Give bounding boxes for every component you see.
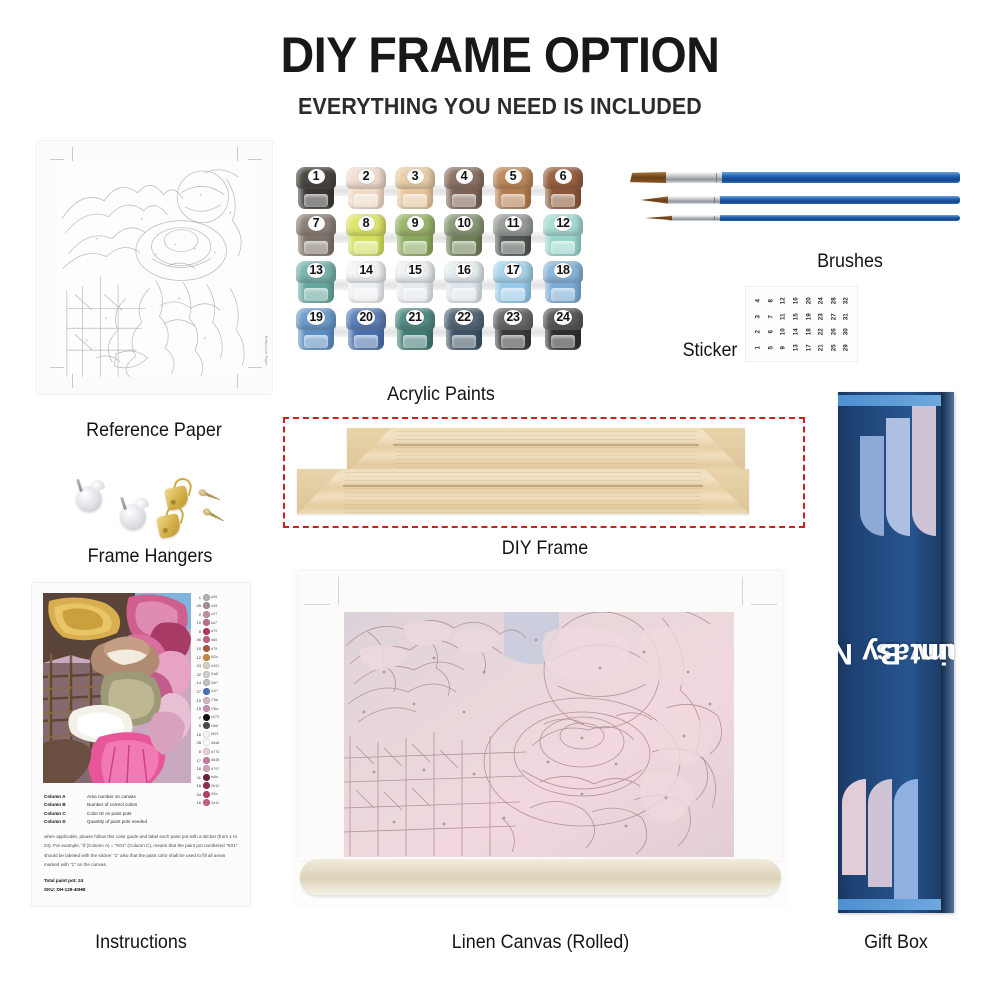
legend-color-swatch <box>203 654 210 661</box>
legend-color-swatch <box>203 739 210 746</box>
paint-pot-number: 4 <box>444 168 484 185</box>
frame-wood-strip <box>297 469 749 514</box>
instructions-column-row: Column BNumber of correct colors <box>44 801 240 809</box>
paint-pot-11: 11 <box>493 214 533 257</box>
paint-pot-number: 9 <box>395 215 435 232</box>
crop-mark <box>72 147 73 161</box>
legend-color-code: l1b7 <box>211 689 218 693</box>
canvas-tick <box>751 604 777 605</box>
legend-number: 16 <box>195 732 201 737</box>
legend-number: 2 <box>195 715 201 720</box>
legend-number: 24 <box>195 663 201 668</box>
legend-number: 11 <box>195 775 201 780</box>
legend-color-code: d5a8 <box>211 741 219 745</box>
paint-pot-17: 17 <box>493 261 533 304</box>
frame-hangers-group <box>70 468 230 538</box>
linen-canvas-group <box>292 567 789 907</box>
caption-reference-paper: Reference Paper <box>45 419 262 442</box>
paint-pot-number: 6 <box>543 168 583 185</box>
paint-pot-18: 18 <box>543 261 583 304</box>
legend-color-swatch <box>203 774 210 781</box>
instructions-sheet: 1a2645o082u0710ka78a7046a6610d7912f62u24… <box>32 583 250 906</box>
paint-pot-22: 22 <box>444 308 484 351</box>
legend-color-swatch <box>203 757 210 764</box>
legend-number: 2 <box>195 612 201 617</box>
instructions-column-value: Number of correct colors <box>87 801 137 809</box>
paint-pot-number: 5 <box>493 168 533 185</box>
legend-color-code: d79 <box>211 647 217 651</box>
legend-number: 45 <box>195 603 201 608</box>
crop-mark <box>72 374 73 388</box>
caption-gift-box: Gift Box <box>843 931 950 954</box>
gift-box: Canvas Paint By Number <box>838 392 954 913</box>
paint-pot-number: 18 <box>543 262 583 279</box>
paint-pot-holder-strip <box>302 232 580 243</box>
caption-diy-frame: DIY Frame <box>439 537 651 560</box>
instructions-column-value: Color ID on paint pots <box>87 810 131 818</box>
brush-bristle <box>630 172 666 183</box>
paint-pot-number: 7 <box>296 215 336 232</box>
legend-number: 14 <box>195 680 201 685</box>
legend-number: 46 <box>195 637 201 642</box>
legend-number: 17 <box>195 758 201 763</box>
artwork-preview-icon <box>43 593 191 783</box>
paint-pot-3: 3 <box>395 167 435 210</box>
legend-number: 19 <box>195 698 201 703</box>
legend-row: 11fs6a <box>195 773 241 781</box>
paint-pot-holder-strip <box>302 326 580 337</box>
instructions-column-row: Column AArea number on canvas <box>44 793 240 801</box>
legend-number: 1 <box>195 595 201 600</box>
crop-mark <box>50 367 64 368</box>
d-ring-plate <box>156 513 182 539</box>
brush-handle <box>720 172 960 183</box>
paint-pot-23: 23 <box>493 308 533 351</box>
legend-color-swatch <box>203 645 210 652</box>
legend-row: 2u07 <box>195 610 241 618</box>
paint-pot-row: 123456 <box>296 166 586 212</box>
page-title: DIY FRAME OPTION <box>35 26 965 84</box>
paint-pot-number: 20 <box>346 309 386 326</box>
legend-number: 8 <box>195 749 201 754</box>
total-paint-pot-value: 24 <box>78 878 83 883</box>
paint-pot-8: 8 <box>346 214 386 257</box>
frame-wood-strip <box>347 428 745 473</box>
crop-mark <box>248 367 262 368</box>
legend-color-code: l75b <box>211 698 218 702</box>
reference-paper-artwork <box>57 159 254 378</box>
paint-pot-number: 1 <box>296 168 336 185</box>
instructions-text: Column AArea number on canvasColumn BNum… <box>44 793 240 895</box>
paint-pot-24: 24 <box>543 308 583 351</box>
canvas-artwork <box>344 612 734 857</box>
legend-color-swatch <box>203 602 210 609</box>
legend-row: 17d848 <box>195 756 241 764</box>
legend-row: 18d797 <box>195 765 241 773</box>
paint-pot-number: 23 <box>493 309 533 326</box>
legend-color-code: 2b10 <box>211 784 219 788</box>
legend-color-swatch <box>203 705 210 712</box>
legend-color-code: k070 <box>211 715 219 719</box>
legend-color-swatch <box>203 765 210 772</box>
legend-color-swatch <box>203 782 210 789</box>
legend-color-swatch <box>203 679 210 686</box>
legend-row: 45o08 <box>195 602 241 610</box>
legend-row: 28d5a8 <box>195 739 241 747</box>
paint-pot-number: 11 <box>493 215 533 232</box>
legend-color-code: n001 <box>211 664 219 668</box>
instructions-totals: Total paint pot: 24 SKU: DH-129-40HB <box>44 876 240 895</box>
paint-pot-number: 24 <box>543 309 583 326</box>
paint-pot-number: 16 <box>444 262 484 279</box>
legend-color-code: a70 <box>211 629 217 633</box>
paint-pot-1: 1 <box>296 167 336 210</box>
legend-number: 12 <box>195 655 201 660</box>
legend-row: 8d776 <box>195 747 241 755</box>
legend-color-swatch <box>203 662 210 669</box>
round-brush <box>636 196 960 204</box>
legend-row: 8a70 <box>195 627 241 635</box>
caption-instructions: Instructions <box>41 931 242 954</box>
d-ring-hanger <box>158 506 184 537</box>
legend-color-code: a66 <box>211 638 217 642</box>
legend-number: 10 <box>195 646 201 651</box>
paint-pot-13: 13 <box>296 261 336 304</box>
legend-color-code: ka7 <box>211 621 217 625</box>
legend-color-code: f62u <box>211 655 218 659</box>
sticker-number: 31 <box>839 310 855 323</box>
legend-color-swatch <box>203 628 210 635</box>
plastic-hook <box>76 486 102 512</box>
paint-pot-16: 16 <box>444 261 484 304</box>
legend-color-code: f903 <box>211 732 218 736</box>
paint-pot-2: 2 <box>346 167 386 210</box>
paint-pot-number: 21 <box>395 309 435 326</box>
legend-color-code: d848 <box>211 758 219 762</box>
paint-pot-row: 789101112 <box>296 213 586 259</box>
total-paint-pot-label: Total paint pot: <box>44 878 77 883</box>
instructions-column-key-label: Column C <box>44 810 82 818</box>
screw-head <box>198 488 208 497</box>
plastic-hook <box>120 504 146 530</box>
legend-number: 8 <box>195 629 201 634</box>
wood-groove <box>393 444 699 446</box>
legend-number: 28 <box>195 740 201 745</box>
canvas-sheet <box>298 571 783 861</box>
paint-pot-20: 20 <box>346 308 386 351</box>
brush-handle <box>714 196 960 204</box>
paint-pot-number: 3 <box>395 168 435 185</box>
sku-label: SKU: <box>44 887 55 892</box>
canvas-tick <box>338 577 339 605</box>
instructions-column-row: Column DQuantity of paint pots needed <box>44 818 240 826</box>
legend-color-swatch <box>203 636 210 643</box>
d-ring-hanger <box>166 478 192 509</box>
legend-row: 22l1a8 <box>195 670 241 678</box>
paint-pot-14: 14 <box>346 261 386 304</box>
legend-row: 46a66 <box>195 636 241 644</box>
brush-ferrule <box>664 172 722 183</box>
caption-sticker: Sticker <box>636 339 783 362</box>
legend-row: 162b10 <box>195 782 241 790</box>
gift-box-title-line2: Paint By Number <box>838 635 954 670</box>
reference-paper: Reference Paper <box>36 141 272 394</box>
paint-pot-number: 13 <box>296 262 336 279</box>
legend-number: 10 <box>195 620 201 625</box>
legend-row: 19l75b <box>195 696 241 704</box>
liner-brush <box>644 215 960 221</box>
canvas-tick <box>304 604 330 605</box>
caption-acrylic-paints: Acrylic Paints <box>308 383 575 406</box>
legend-color-swatch <box>203 611 210 618</box>
paint-pot-7: 7 <box>296 214 336 257</box>
paint-pot-10: 10 <box>444 214 484 257</box>
crop-mark <box>248 159 262 160</box>
paint-pot-number: 19 <box>296 309 336 326</box>
paint-pot-number: 14 <box>346 262 386 279</box>
legend-row: 10d79 <box>195 644 241 652</box>
crop-mark <box>237 374 238 388</box>
legend-row: 2k070 <box>195 713 241 721</box>
instructions-column-key-label: Column B <box>44 801 82 809</box>
legend-color-swatch <box>203 671 210 678</box>
paint-pot-6: 6 <box>543 167 583 210</box>
legend-row: 10ka7 <box>195 619 241 627</box>
paint-pot-12: 12 <box>543 214 583 257</box>
paint-pot-number: 10 <box>444 215 484 232</box>
paint-pot-holder-strip <box>302 185 580 196</box>
legend-row: 15l78a <box>195 705 241 713</box>
legend-row: 5i4b8 <box>195 722 241 730</box>
legend-color-code: o08 <box>211 604 217 608</box>
legend-row: 12f62u <box>195 653 241 661</box>
instructions-column-value: Quantity of paint pots needed <box>87 818 147 826</box>
legend-number: 18 <box>195 766 201 771</box>
instructions-column-key: Column AArea number on canvasColumn BNum… <box>44 793 240 827</box>
legend-color-code: l78a <box>211 707 218 711</box>
legend-color-code: i4b8 <box>211 724 218 728</box>
legend-color-swatch <box>203 714 210 721</box>
instructions-color-legend: 1a2645o082u0710ka78a7046a6610d7912f62u24… <box>195 593 241 825</box>
brushes-group <box>630 172 960 244</box>
paint-pot-4: 4 <box>444 167 484 210</box>
canvas-line-art-icon <box>344 612 734 857</box>
reference-line-art-icon <box>57 159 254 378</box>
product-infographic: DIY FRAME OPTION EVERYTHING YOU NEED IS … <box>0 0 1000 1000</box>
crop-mark <box>237 147 238 161</box>
paint-pot-number: 8 <box>346 215 386 232</box>
legend-color-swatch <box>203 594 210 601</box>
diy-frame-group <box>283 417 805 528</box>
instructions-column-row: Column CColor ID on paint pots <box>44 810 240 818</box>
wood-grain <box>395 428 697 473</box>
legend-row: 1a26 <box>195 593 241 601</box>
canvas-tick <box>742 577 743 605</box>
instructions-column-key-label: Column D <box>44 818 82 826</box>
caption-frame-hangers: Frame Hangers <box>58 545 242 568</box>
legend-color-code: a26 <box>211 595 217 599</box>
legend-color-swatch <box>203 731 210 738</box>
legend-row: 27l1b7 <box>195 687 241 695</box>
paint-pot-number: 12 <box>543 215 583 232</box>
legend-color-swatch <box>203 619 210 626</box>
brass-screw <box>198 488 222 503</box>
instructions-body-text: when applicable, please follow this colo… <box>44 832 240 870</box>
legend-row: 16f903 <box>195 730 241 738</box>
brush-bristle <box>636 196 668 204</box>
legend-color-swatch <box>203 722 210 729</box>
page-subtitle: EVERYTHING YOU NEED IS INCLUDED <box>35 93 965 120</box>
brush-ferrule <box>666 196 720 204</box>
caption-brushes: Brushes <box>767 250 933 273</box>
legend-color-code: u07 <box>211 612 217 616</box>
legend-number: 5 <box>195 723 201 728</box>
wood-grain <box>345 469 701 514</box>
legend-number: 27 <box>195 689 201 694</box>
brush-ferrule <box>668 215 720 221</box>
crop-mark <box>50 159 64 160</box>
legend-color-code: d797 <box>211 767 219 771</box>
paint-pot-9: 9 <box>395 214 435 257</box>
paint-pot-row: 131415161718 <box>296 260 586 306</box>
paint-pot-row: 192021222324 <box>296 307 586 353</box>
instructions-column-key-label: Column A <box>44 793 82 801</box>
legend-number: 15 <box>195 706 201 711</box>
legend-row: 14l3b7 <box>195 679 241 687</box>
sticker-number: 32 <box>839 294 855 307</box>
paint-pot-number: 2 <box>346 168 386 185</box>
instructions-column-value: Area number on canvas <box>87 793 136 801</box>
sku-value: DH-129-40HB <box>57 887 86 892</box>
legend-color-code: l3b7 <box>211 681 218 685</box>
caption-linen-canvas: Linen Canvas (Rolled) <box>312 931 769 954</box>
paint-pot-holder-strip <box>302 279 580 290</box>
legend-color-swatch <box>203 688 210 695</box>
legend-number: 16 <box>195 783 201 788</box>
reference-paper-code: Reference Paper <box>264 336 268 366</box>
paint-pot-5: 5 <box>493 167 533 210</box>
acrylic-paints-group: 123456789101112131415161718192021222324 <box>296 166 586 356</box>
brush-handle <box>714 215 960 221</box>
legend-color-swatch <box>203 697 210 704</box>
flat-brush <box>630 172 960 183</box>
sticker-number: 29 <box>839 341 855 354</box>
wood-groove <box>343 485 703 487</box>
legend-number: 22 <box>195 672 201 677</box>
paint-pot-number: 22 <box>444 309 484 326</box>
paint-pot-21: 21 <box>395 308 435 351</box>
legend-color-swatch <box>203 748 210 755</box>
paint-pot-number: 17 <box>493 262 533 279</box>
canvas-roll <box>300 859 781 895</box>
paint-pot-15: 15 <box>395 261 435 304</box>
legend-row: 24n001 <box>195 662 241 670</box>
instructions-artwork <box>43 593 191 783</box>
sticker-number: 30 <box>839 325 855 338</box>
legend-color-code: d776 <box>211 750 219 754</box>
legend-color-code: fs6a <box>211 775 218 779</box>
gift-box-title: Canvas Paint By Number <box>838 392 954 913</box>
brass-screw <box>202 507 226 524</box>
legend-color-code: l1a8 <box>211 672 218 676</box>
paint-pot-number: 15 <box>395 262 435 279</box>
paint-pot-19: 19 <box>296 308 336 351</box>
